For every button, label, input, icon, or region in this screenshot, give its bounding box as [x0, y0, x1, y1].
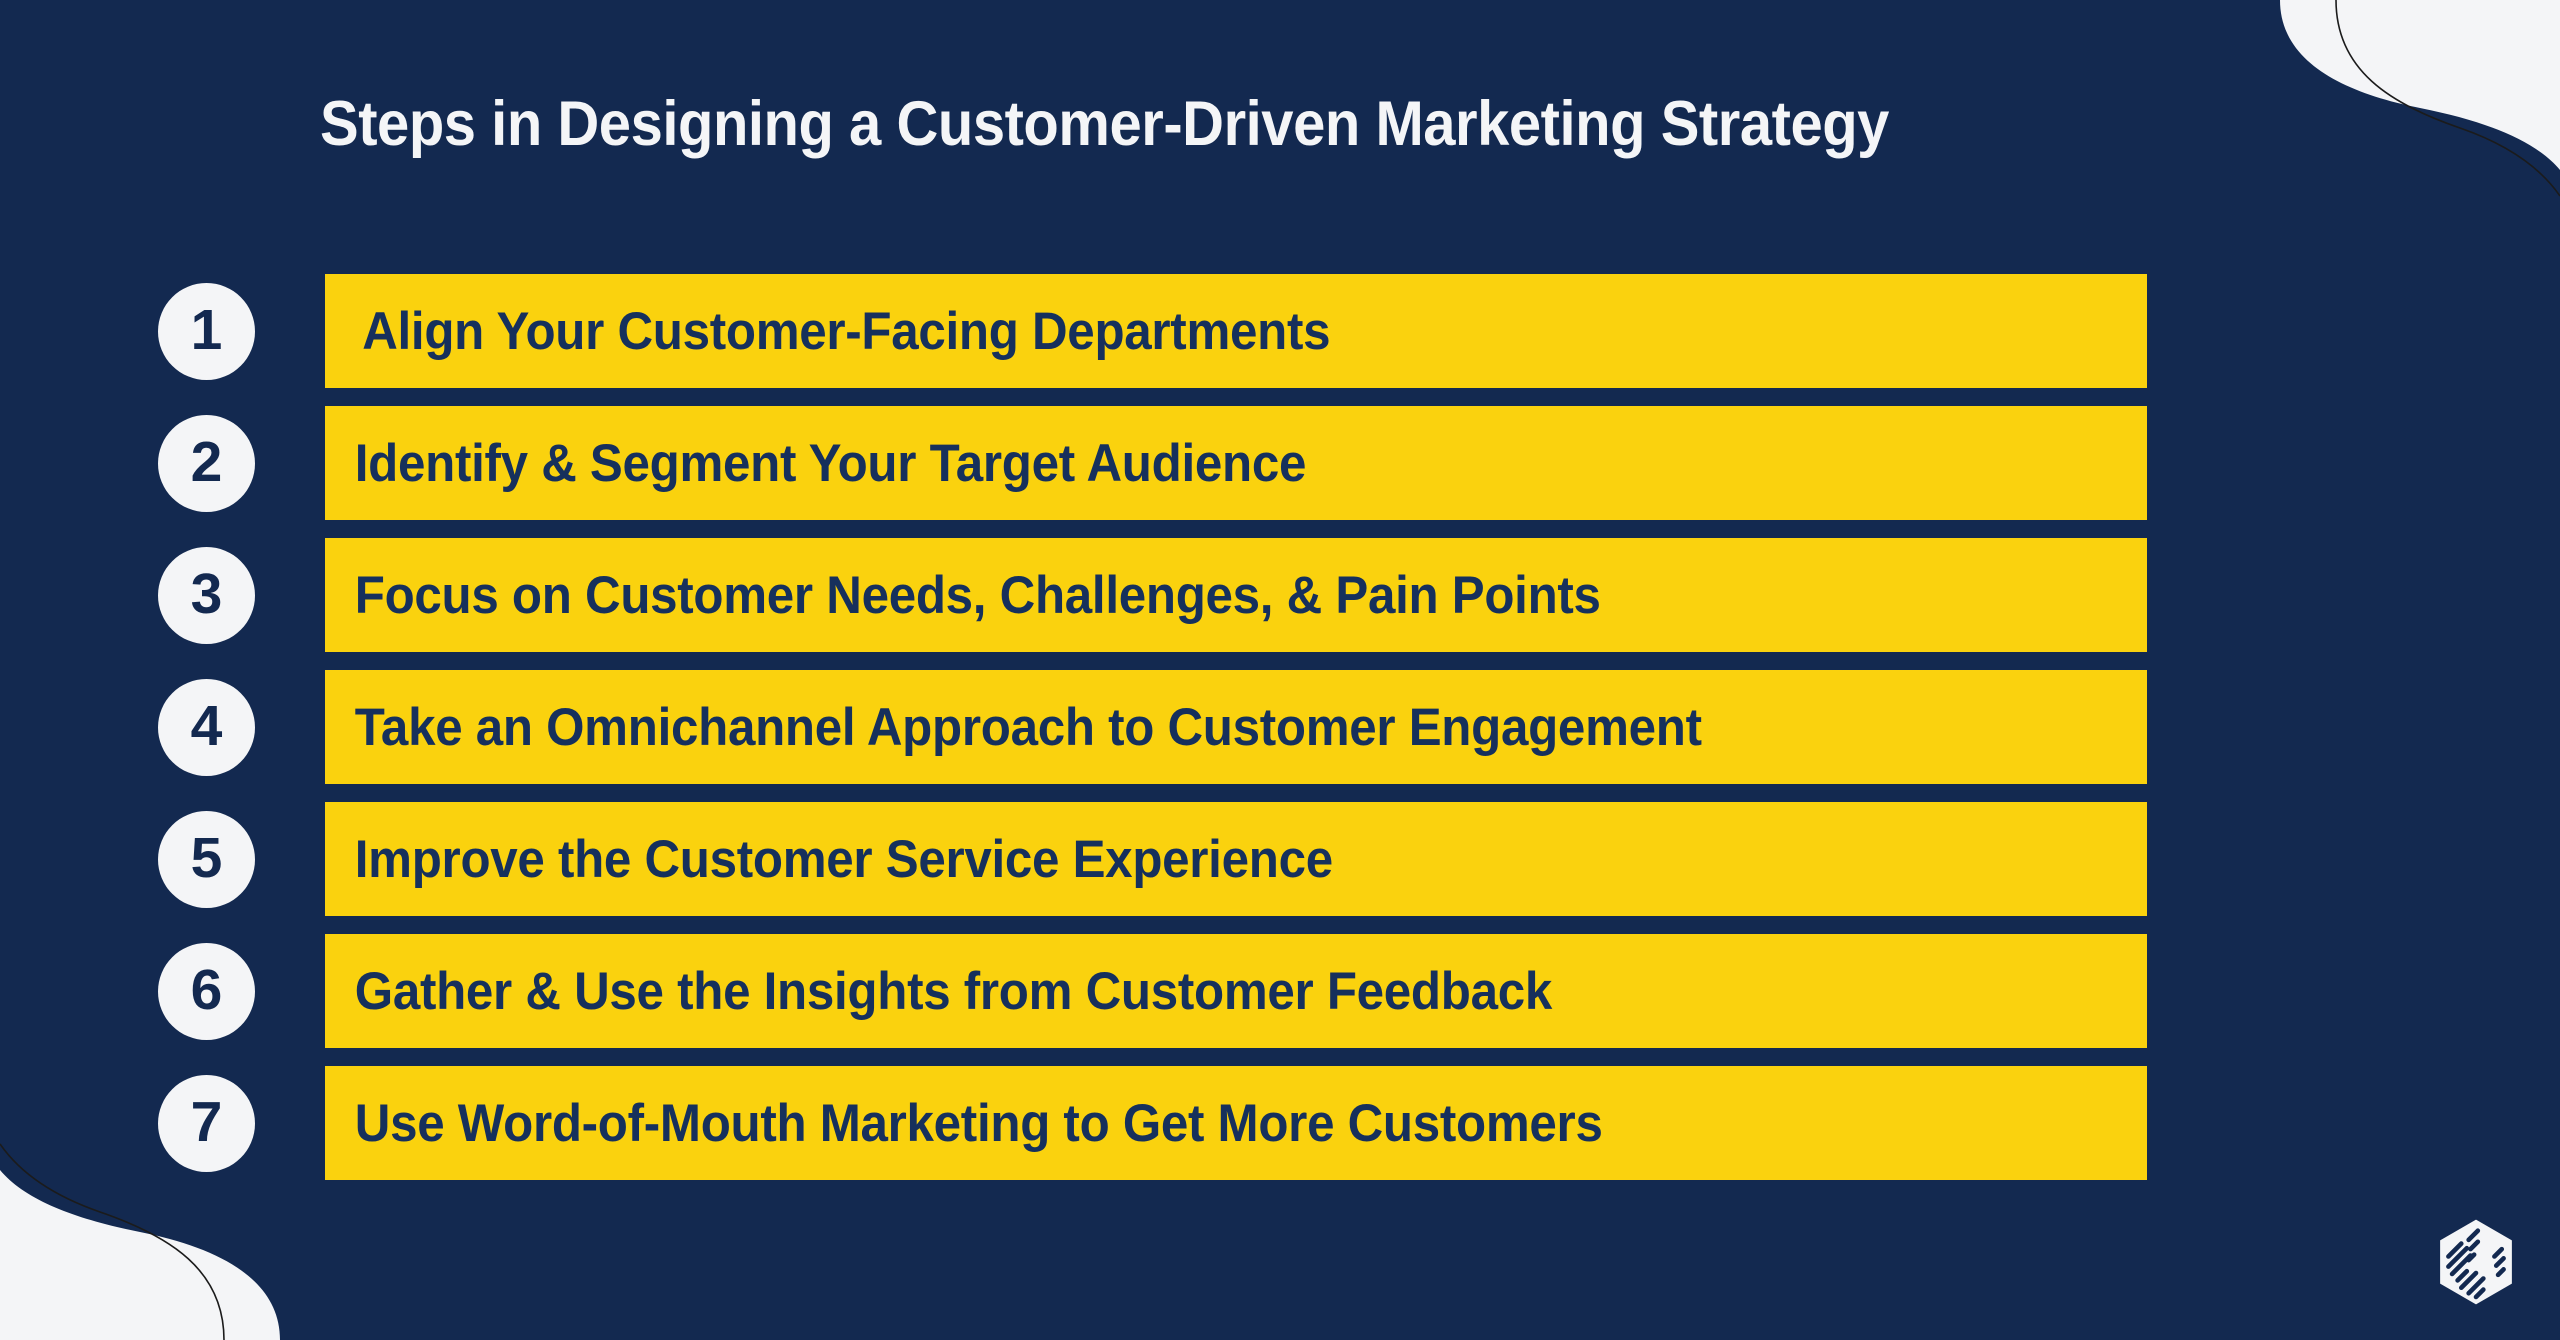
step-number-label: 3 [191, 566, 223, 623]
step-row[interactable]: 6 Gather & Use the Insights from Custome… [0, 934, 2560, 1048]
step-bar[interactable]: Identify & Segment Your Target Audience [325, 406, 2147, 520]
step-bar[interactable]: Align Your Customer-Facing Departments [325, 274, 2147, 388]
step-bar[interactable]: Use Word-of-Mouth Marketing to Get More … [325, 1066, 2147, 1180]
step-number-label: 1 [191, 302, 223, 359]
step-number-label: 6 [191, 962, 223, 1019]
step-bar[interactable]: Take an Omnichannel Approach to Customer… [325, 670, 2147, 784]
step-number-label: 2 [191, 434, 223, 491]
step-bar[interactable]: Gather & Use the Insights from Customer … [325, 934, 2147, 1048]
step-row[interactable]: 5 Improve the Customer Service Experienc… [0, 802, 2560, 916]
step-row[interactable]: 1 Align Your Customer-Facing Departments [0, 274, 2560, 388]
step-number-badge: 3 [158, 547, 255, 644]
top-right-blob-decoration [2140, 0, 2560, 220]
step-bar-label: Use Word-of-Mouth Marketing to Get More … [325, 1093, 1603, 1154]
step-number-label: 7 [191, 1094, 223, 1151]
step-number-badge: 6 [158, 943, 255, 1040]
step-number-badge: 4 [158, 679, 255, 776]
step-bar-label: Gather & Use the Insights from Customer … [325, 961, 1552, 1022]
step-number-label: 5 [191, 830, 223, 887]
step-row[interactable]: 7 Use Word-of-Mouth Marketing to Get Mor… [0, 1066, 2560, 1180]
step-number-badge: 2 [158, 415, 255, 512]
step-row[interactable]: 3 Focus on Customer Needs, Challenges, &… [0, 538, 2560, 652]
step-bar-label: Identify & Segment Your Target Audience [325, 433, 1306, 494]
infographic-canvas: Steps in Designing a Customer-Driven Mar… [0, 0, 2560, 1340]
step-bar-label: Align Your Customer-Facing Departments [325, 301, 1330, 362]
step-number-label: 4 [191, 698, 223, 755]
step-number-badge: 1 [158, 283, 255, 380]
step-number-badge: 7 [158, 1075, 255, 1172]
step-bar-label: Improve the Customer Service Experience [325, 829, 1333, 890]
step-row[interactable]: 4 Take an Omnichannel Approach to Custom… [0, 670, 2560, 784]
page-title: Steps in Designing a Customer-Driven Mar… [320, 88, 1889, 160]
step-row[interactable]: 2 Identify & Segment Your Target Audienc… [0, 406, 2560, 520]
steps-list: 1 Align Your Customer-Facing Departments… [0, 274, 2560, 1198]
step-number-badge: 5 [158, 811, 255, 908]
step-bar-label: Take an Omnichannel Approach to Customer… [325, 697, 1702, 758]
hexagon-logo-icon [2430, 1216, 2522, 1308]
step-bar-label: Focus on Customer Needs, Challenges, & P… [325, 565, 1601, 626]
step-bar[interactable]: Improve the Customer Service Experience [325, 802, 2147, 916]
step-bar[interactable]: Focus on Customer Needs, Challenges, & P… [325, 538, 2147, 652]
